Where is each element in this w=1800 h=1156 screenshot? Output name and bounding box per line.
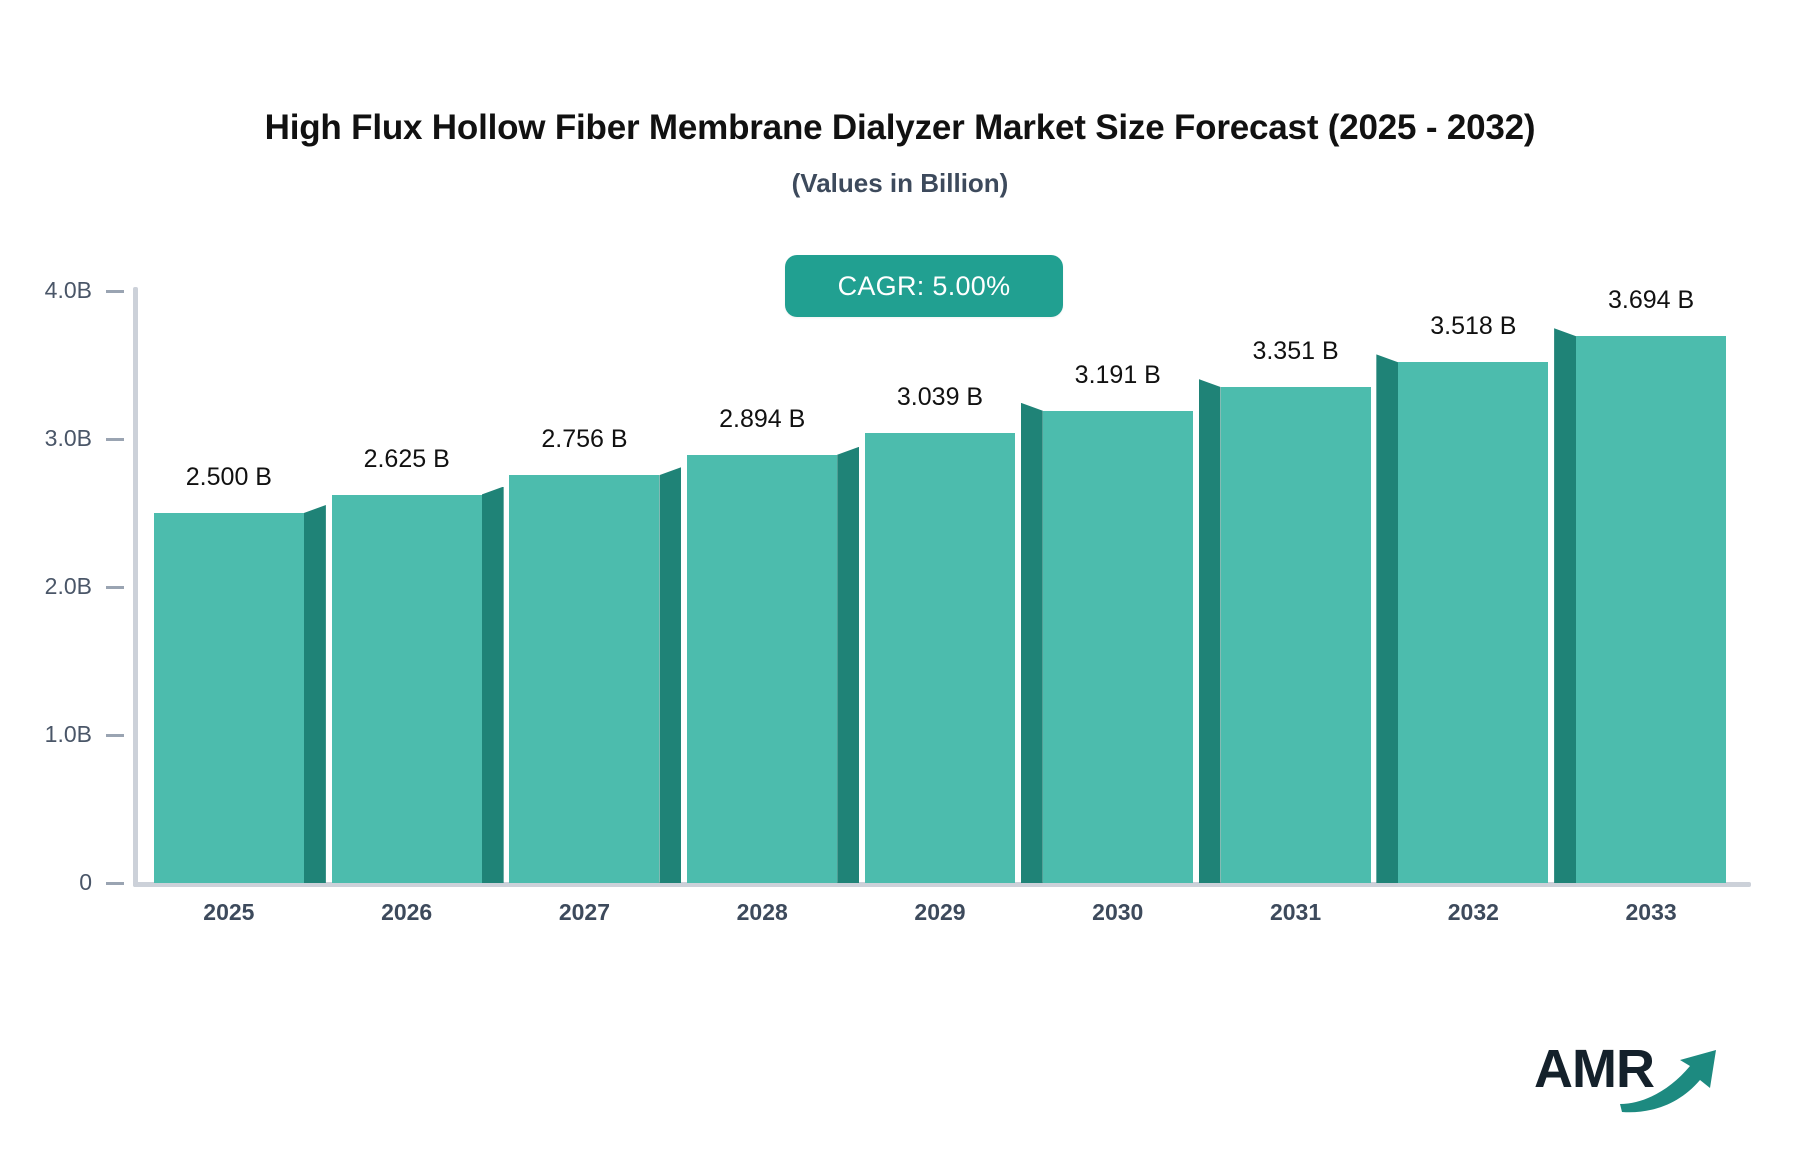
y-axis-tick-label: 1.0B: [45, 723, 92, 746]
x-axis-label: 2026: [337, 899, 477, 926]
x-axis-label: 2027: [514, 899, 654, 926]
bar-value-label: 2.894 B: [652, 407, 872, 432]
bar-value-label: 3.039 B: [830, 385, 1050, 410]
bar-front-face: [154, 513, 304, 883]
bar-value-label: 3.694 B: [1541, 288, 1761, 313]
plot-area: 4.0B3.0B2.0B1.0B0 2.500 B2.625 B2.756 B2…: [0, 0, 1800, 1156]
bar-side-face: [1554, 328, 1576, 883]
bar-value-label: 3.351 B: [1186, 339, 1406, 364]
bar-side-face: [1021, 403, 1043, 883]
bar-side-face: [659, 467, 681, 883]
y-axis-tick-mark: [106, 438, 124, 441]
bar-value-label: 3.191 B: [1008, 363, 1228, 388]
y-axis-tick-label: 4.0B: [45, 279, 92, 302]
bar-side-face: [837, 447, 859, 883]
chart-canvas: High Flux Hollow Fiber Membrane Dialyzer…: [0, 0, 1800, 1156]
bar-front-face: [1043, 411, 1193, 883]
bar-front-face: [1221, 387, 1371, 883]
y-axis-tick-mark: [106, 290, 124, 293]
y-axis-tick-mark: [106, 882, 124, 885]
x-axis-label: 2025: [159, 899, 299, 926]
y-axis-line: [133, 287, 138, 887]
y-axis-tick-mark: [106, 734, 124, 737]
x-axis-label: 2032: [1403, 899, 1543, 926]
bar-side-face: [1199, 379, 1221, 883]
amr-logo: AMR: [1534, 1038, 1724, 1122]
bar-side-face: [482, 487, 504, 884]
y-axis-tick-label: 2.0B: [45, 575, 92, 598]
bar-front-face: [865, 433, 1015, 883]
x-axis-label: 2030: [1048, 899, 1188, 926]
y-axis-tick-label: 3.0B: [45, 427, 92, 450]
bar-front-face: [1576, 336, 1726, 883]
y-axis-tick-mark: [106, 586, 124, 589]
bar-front-face: [687, 455, 837, 883]
bar-side-face: [1376, 354, 1398, 883]
bar-side-face: [304, 505, 326, 883]
y-axis-tick-label: 0: [79, 871, 92, 894]
bar-front-face: [509, 475, 659, 883]
x-axis-label: 2033: [1581, 899, 1721, 926]
bar-front-face: [1398, 362, 1548, 883]
x-axis-label: 2028: [692, 899, 832, 926]
bar-value-label: 3.518 B: [1363, 314, 1583, 339]
bar-front-face: [332, 495, 482, 884]
x-axis-label: 2029: [870, 899, 1010, 926]
growth-arrow-icon: [1618, 1044, 1724, 1114]
x-axis-label: 2031: [1226, 899, 1366, 926]
